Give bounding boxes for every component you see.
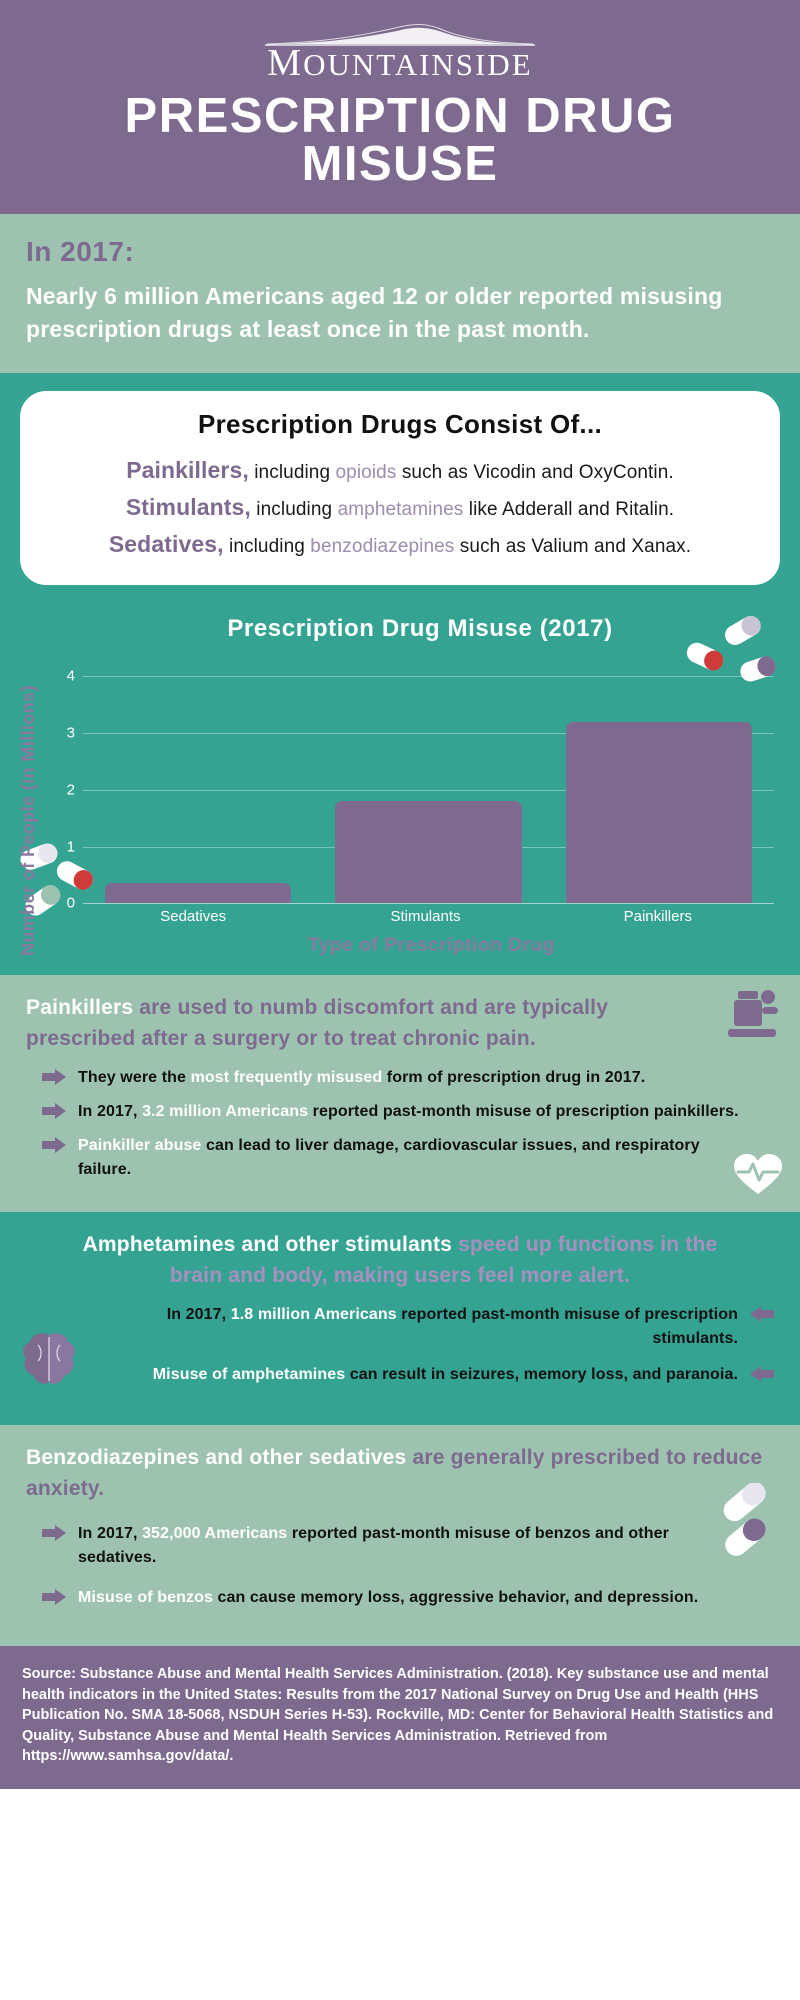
- chart-bar[interactable]: [335, 801, 522, 903]
- capsule-pills-icon: [706, 1483, 782, 1559]
- brain-icon: [18, 1329, 80, 1391]
- bullet-part-b: 352,000 Americans: [142, 1525, 287, 1542]
- footer-band: Source: Substance Abuse and Mental Healt…: [0, 1646, 800, 1789]
- card-line-lead: Painkillers,: [126, 457, 249, 483]
- section-heading-emphasis: Painkillers: [26, 996, 133, 1019]
- chart-y-tick-label: 1: [49, 838, 75, 855]
- intro-year-label: In 2017:: [26, 236, 774, 268]
- card-line: Painkillers, including opioids such as V…: [42, 452, 758, 489]
- arrow-left-icon: [750, 1306, 774, 1322]
- section-heading-emphasis: Amphetamines and other stimulants: [83, 1233, 453, 1256]
- bullet-part-a: In 2017,: [167, 1306, 231, 1323]
- chart-y-tick-label: 2: [49, 781, 75, 798]
- bullet-part-b: most frequently misused: [191, 1069, 383, 1086]
- section-bullet-list: In 2017, 352,000 Americans reported past…: [26, 1522, 774, 1610]
- chart-gridline: [83, 903, 774, 904]
- bullet-part-b: Painkiller abuse: [78, 1137, 201, 1154]
- section-bullet-list: They were the most frequently misused fo…: [26, 1066, 774, 1182]
- page-title: PRESCRIPTION DRUG MISUSE: [0, 92, 800, 188]
- bullet-part-c: can cause memory loss, aggressive behavi…: [213, 1589, 698, 1606]
- list-item: Misuse of benzos can cause memory loss, …: [26, 1586, 774, 1610]
- chart-y-tick-label: 0: [49, 895, 75, 912]
- chart-x-tick-label: Stimulants: [331, 908, 519, 925]
- bullet-part-a: In 2017,: [78, 1525, 142, 1542]
- card-line-tail: like Adderall and Ritalin.: [463, 499, 674, 520]
- card-line-highlight: amphetamines: [338, 499, 464, 520]
- card-line-mid: including: [251, 499, 338, 520]
- header-banner: MOUNTAINSIDE PRESCRIPTION DRUG MISUSE: [0, 0, 800, 214]
- section-heading: Painkillers are used to numb discomfort …: [26, 993, 774, 1054]
- intro-body-text: Nearly 6 million Americans aged 12 or ol…: [26, 280, 774, 347]
- arrow-right-icon: [42, 1525, 66, 1541]
- list-item: Misuse of amphetamines can result in sei…: [96, 1363, 774, 1387]
- list-item-text: Painkiller abuse can lead to liver damag…: [78, 1134, 774, 1182]
- chart-bar-slot: [105, 653, 292, 903]
- chart-bar-slot: [566, 653, 753, 903]
- chart-bar[interactable]: [105, 883, 292, 903]
- card-line-mid: including: [224, 536, 311, 557]
- list-item-text: In 2017, 352,000 Americans reported past…: [78, 1522, 774, 1570]
- bullet-part-c: reported past-month misuse of prescripti…: [308, 1103, 739, 1120]
- chart-x-tick-label: Painkillers: [564, 908, 752, 925]
- intro-band: In 2017: Nearly 6 million Americans aged…: [0, 214, 800, 373]
- chart-plot-area: Number of People (in Millions) 01234 Sed…: [0, 653, 800, 957]
- card-line-highlight: opioids: [336, 462, 397, 483]
- brand-wordmark-rest: OUNTAINSIDE: [303, 47, 533, 82]
- list-item: In 2017, 3.2 million Americans reported …: [26, 1100, 774, 1124]
- arrow-right-icon: [42, 1103, 66, 1119]
- chart-bars: [83, 653, 774, 903]
- section-heading: Benzodiazepines and other sedatives are …: [26, 1443, 774, 1504]
- list-item-text: They were the most frequently misused fo…: [78, 1066, 645, 1090]
- chart-plot-column: 01234 SedativesStimulantsPainkillers Typ…: [43, 653, 774, 957]
- chart-bar-slot: [335, 653, 522, 903]
- chart-bar[interactable]: [566, 722, 753, 904]
- bullet-part-c: form of prescription drug in 2017.: [382, 1069, 645, 1086]
- chart-x-tick-labels: SedativesStimulantsPainkillers: [77, 903, 774, 925]
- card-line-highlight: benzodiazepines: [310, 536, 454, 557]
- list-item-text: Misuse of amphetamines can result in sei…: [96, 1363, 738, 1387]
- list-item: In 2017, 352,000 Americans reported past…: [26, 1522, 774, 1570]
- chart-y-tick-label: 4: [49, 668, 75, 685]
- brand-wordmark-initial: M: [267, 42, 303, 84]
- chart-section: Prescription Drug Misuse (2017) Number o…: [0, 609, 800, 975]
- arrow-left-icon: [750, 1366, 774, 1382]
- list-item: Painkiller abuse can lead to liver damag…: [26, 1134, 774, 1182]
- card-line-lead: Stimulants,: [126, 494, 251, 520]
- section-painkillers: Painkillers are used to numb discomfort …: [0, 975, 800, 1212]
- arrow-right-icon: [42, 1069, 66, 1085]
- card-line-tail: such as Valium and Xanax.: [454, 536, 691, 557]
- chart-x-tick-label: Sedatives: [99, 908, 287, 925]
- section-bullet-list: In 2017, 1.8 million Americans reported …: [26, 1303, 774, 1387]
- bullet-part-b: Misuse of benzos: [78, 1589, 213, 1606]
- bullet-part-b: Misuse of amphetamines: [153, 1366, 345, 1383]
- list-item: In 2017, 1.8 million Americans reported …: [96, 1303, 774, 1351]
- card-line: Stimulants, including amphetamines like …: [42, 489, 758, 526]
- card-line: Sedatives, including benzodiazepines suc…: [42, 526, 758, 563]
- card-title: Prescription Drugs Consist Of...: [42, 409, 758, 440]
- chart-y-axis-label: Number of People (in Millions): [18, 655, 39, 956]
- infographic-page: MOUNTAINSIDE PRESCRIPTION DRUG MISUSE In…: [0, 0, 800, 2000]
- chart-x-axis-label: Type of Prescription Drug: [43, 935, 774, 957]
- arrow-right-icon: [42, 1589, 66, 1605]
- bullet-part-b: 3.2 million Americans: [142, 1103, 308, 1120]
- brand-wordmark: MOUNTAINSIDE: [267, 44, 532, 82]
- card-band: Prescription Drugs Consist Of... Painkil…: [0, 373, 800, 610]
- list-item-text: Misuse of benzos can cause memory loss, …: [78, 1586, 698, 1610]
- bullet-part-a: In 2017,: [78, 1103, 142, 1120]
- section-heading: Amphetamines and other stimulants speed …: [26, 1230, 774, 1291]
- bullet-part-c: can result in seizures, memory loss, and…: [345, 1366, 738, 1383]
- drug-types-card: Prescription Drugs Consist Of... Painkil…: [20, 391, 780, 586]
- card-line-tail: such as Vicodin and OxyContin.: [396, 462, 673, 483]
- bullet-part-c: reported past-month misuse of prescripti…: [397, 1306, 738, 1347]
- list-item: They were the most frequently misused fo…: [26, 1066, 774, 1090]
- card-line-lead: Sedatives,: [109, 531, 224, 557]
- pill-bottle-icon: [720, 987, 784, 1047]
- heartbeat-icon: [732, 1152, 784, 1198]
- card-line-mid: including: [249, 462, 336, 483]
- chart-plot: 01234: [49, 653, 774, 903]
- section-stimulants: Amphetamines and other stimulants speed …: [0, 1212, 800, 1425]
- list-item-text: In 2017, 1.8 million Americans reported …: [96, 1303, 738, 1351]
- arrow-right-icon: [42, 1137, 66, 1153]
- bullet-part-a: They were the: [78, 1069, 191, 1086]
- source-citation: Source: Substance Abuse and Mental Healt…: [22, 1664, 778, 1767]
- brand-logo: MOUNTAINSIDE: [0, 22, 800, 82]
- section-sedatives: Benzodiazepines and other sedatives are …: [0, 1425, 800, 1646]
- section-heading-emphasis: Benzodiazepines and other sedatives: [26, 1446, 406, 1469]
- list-item-text: In 2017, 3.2 million Americans reported …: [78, 1100, 739, 1124]
- chart-y-tick-label: 3: [49, 725, 75, 742]
- bullet-part-b: 1.8 million Americans: [231, 1306, 397, 1323]
